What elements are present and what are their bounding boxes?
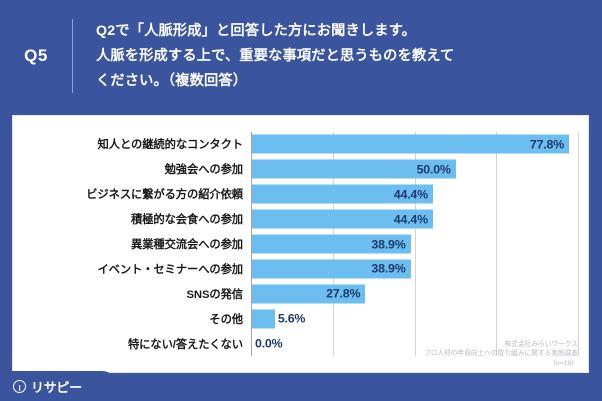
bar[interactable]: 44.4%	[252, 210, 433, 229]
bar-wrapper: 5.6%	[252, 309, 578, 328]
bar-row: ビジネスに繋がる方の紹介依頼44.4%	[251, 182, 578, 207]
bar-category-label: 特にない/答えたくない	[128, 336, 243, 352]
question-number: Q5	[0, 46, 72, 66]
question-line-1: Q2で「人脈形成」と回答した方にお聞きします。	[96, 19, 454, 44]
question-line-2: 人脈を形成する上で、重要な事項だと思うものを教えて	[96, 44, 454, 69]
bar[interactable]: 38.9%	[252, 259, 411, 278]
bar-wrapper: 77.8%	[252, 135, 578, 154]
source-sample: （n=18）	[424, 359, 578, 369]
bar-category-label: その他	[209, 311, 243, 327]
bar-category-label: 勉強会への参加	[165, 161, 243, 177]
bar-value-label: 38.9%	[371, 237, 410, 251]
brand-logo[interactable]: リサピー	[0, 371, 118, 401]
bar[interactable]: 77.8%	[252, 135, 569, 154]
chart-card: 知人との継続的なコンタクト77.8%勉強会への参加50.0%ビジネスに繋がる方の…	[12, 115, 589, 373]
bar-category-label: ビジネスに繋がる方の紹介依頼	[86, 186, 243, 202]
bar-row: イベント・セミナーへの参加38.9%	[251, 256, 578, 281]
bar-row: 異業種交流会への参加38.9%	[251, 232, 578, 257]
bar-row: 知人との継続的なコンタクト77.8%	[251, 132, 578, 157]
bar-wrapper: 50.0%	[252, 160, 578, 179]
bar[interactable]: 27.8%	[252, 284, 365, 303]
question-header: Q5 Q2で「人脈形成」と回答した方にお聞きします。 人脈を形成する上で、重要な…	[0, 0, 602, 112]
bar-value-label: 50.0%	[417, 162, 456, 176]
bar-category-label: 異業種交流会への参加	[131, 236, 243, 252]
bar-category-label: SNSの発信	[186, 286, 243, 302]
bar-wrapper: 38.9%	[252, 235, 578, 254]
question-line-3: ください。（複数回答）	[96, 69, 454, 94]
bar-row: 積極的な会食への参加44.4%	[251, 207, 578, 232]
bar-value-label: 77.8%	[530, 137, 569, 151]
gridline-80	[578, 132, 579, 356]
bar[interactable]: 50.0%	[252, 160, 456, 179]
source-company: 株式会社みらいワークス	[424, 340, 578, 350]
magnifier-icon	[13, 380, 26, 393]
bar-value-label: 44.4%	[394, 187, 433, 201]
bar-row: 勉強会への参加50.0%	[251, 157, 578, 182]
bar[interactable]	[252, 309, 275, 328]
bar-value-label: 38.9%	[371, 262, 410, 276]
source-note: 株式会社みらいワークス プロ人材の年収向上への取り組みに関する実態調査 （n=1…	[424, 340, 578, 369]
bar-value-label: 44.4%	[394, 212, 433, 226]
bar-value-label: 0.0%	[252, 337, 282, 351]
source-survey: プロ人材の年収向上への取り組みに関する実態調査	[424, 349, 578, 359]
bar-rows: 知人との継続的なコンタクト77.8%勉強会への参加50.0%ビジネスに繋がる方の…	[251, 132, 578, 356]
bar-category-label: 知人との継続的なコンタクト	[98, 136, 243, 152]
brand-logo-text: リサピー	[31, 377, 82, 396]
plot-area: 知人との継続的なコンタクト77.8%勉強会への参加50.0%ビジネスに繋がる方の…	[251, 132, 578, 356]
question-text: Q2で「人脈形成」と回答した方にお聞きします。 人脈を形成する上で、重要な事項だ…	[73, 19, 468, 94]
bar-wrapper: 44.4%	[252, 185, 578, 204]
bar-chart: 知人との継続的なコンタクト77.8%勉強会への参加50.0%ビジネスに繋がる方の…	[13, 116, 590, 374]
bar-value-label: 5.6%	[275, 312, 305, 326]
bar-value-label: 27.8%	[326, 287, 365, 301]
bar-wrapper: 38.9%	[252, 259, 578, 278]
bar-category-label: イベント・セミナーへの参加	[97, 261, 243, 277]
bar-row: SNSの発信27.8%	[251, 281, 578, 306]
bar[interactable]: 38.9%	[252, 235, 411, 254]
bar-wrapper: 27.8%	[252, 284, 578, 303]
bar[interactable]: 44.4%	[252, 185, 433, 204]
bar-wrapper: 44.4%	[252, 210, 578, 229]
bar-row: その他5.6%	[251, 306, 578, 331]
bar-category-label: 積極的な会食への参加	[131, 211, 243, 227]
